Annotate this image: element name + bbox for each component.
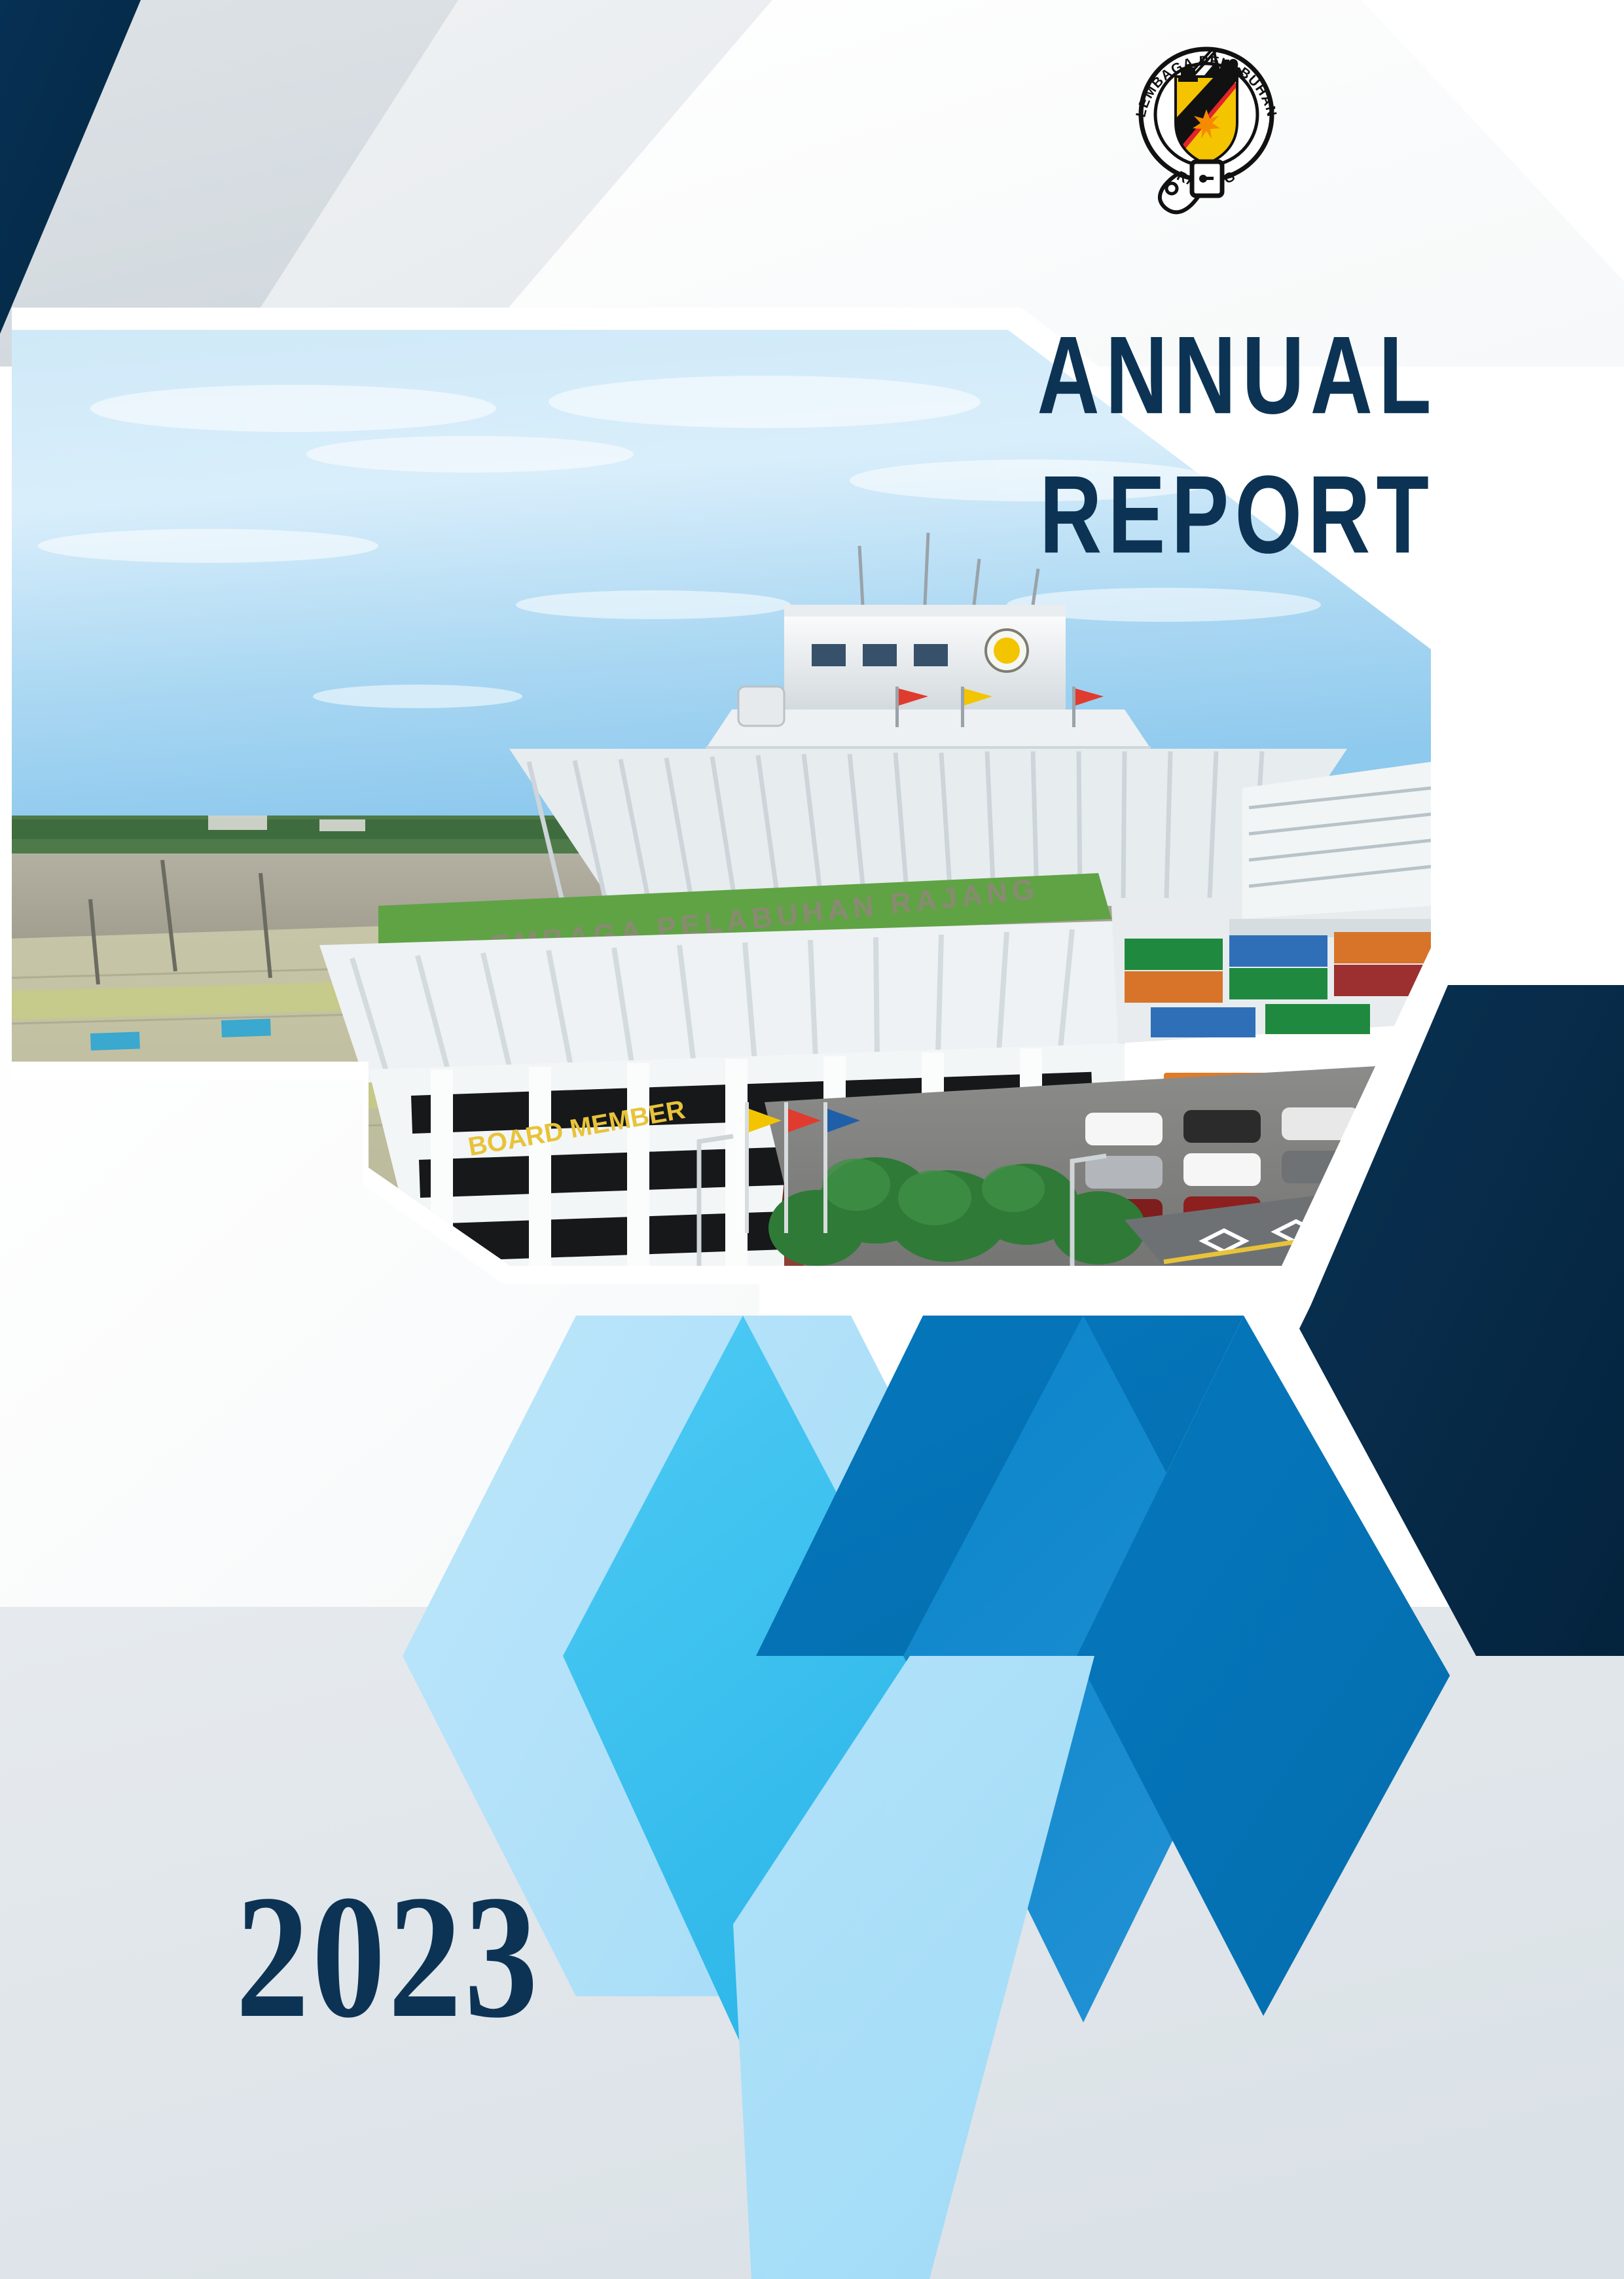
title-line-report: REPORT [969, 447, 1506, 582]
title-line-annual: ANNUAL [969, 308, 1506, 442]
annual-report-cover: LEMBAGA PELABUHAN RAJANG [0, 0, 1624, 2279]
cover-year: 2023 [236, 1869, 541, 2045]
cover-title: ANNUAL REPORT [969, 308, 1506, 552]
lembaga-pelabuhan-rajang-emblem: LEMBAGA PELABUHAN RAJANG [1125, 36, 1288, 219]
